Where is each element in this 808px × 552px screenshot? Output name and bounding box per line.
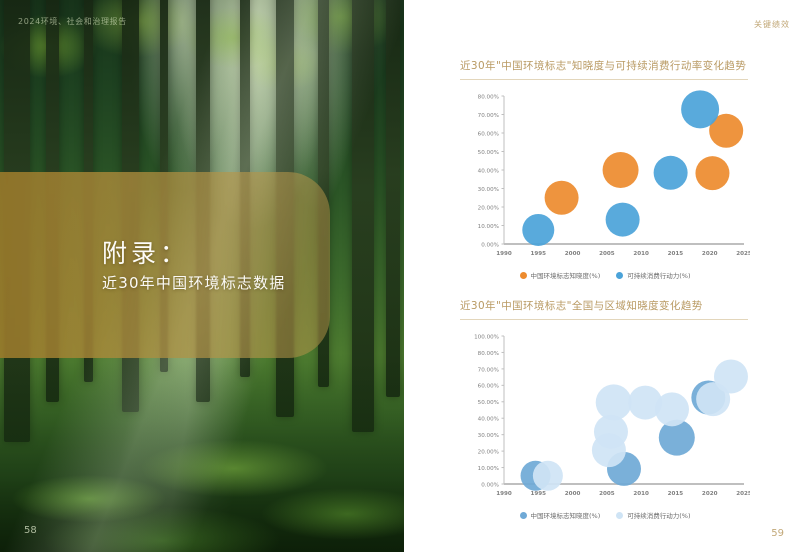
tree-trunk (386, 0, 400, 397)
chart-title-rule (460, 319, 748, 320)
y-axis-tick-label: 30.00% (478, 187, 499, 193)
running-header-left: 2024环境、社会和治理报告 (18, 16, 127, 27)
x-axis-tick-label: 1995 (530, 491, 546, 497)
scatter-bubble (596, 384, 632, 420)
legend-color-dot (520, 272, 527, 279)
legend-item[interactable]: 可持续消费行动力(%) (616, 510, 690, 520)
y-axis-tick-label: 50.00% (478, 150, 499, 156)
scatter-bubble (522, 214, 554, 246)
y-axis-tick-label: 40.00% (478, 417, 499, 423)
chart-title: 近30年"中国环境标志"知晓度与可持续消费行动率变化趋势 (460, 58, 760, 79)
x-axis-tick-label: 2015 (668, 491, 684, 497)
appendix-subtitle: 近30年中国环境标志数据 (102, 272, 286, 293)
x-axis-tick-label: 2020 (702, 491, 718, 497)
chart-title: 近30年"中国环境标志"全国与区域知晓度变化趋势 (460, 298, 760, 319)
y-axis-tick-label: 60.00% (478, 384, 499, 390)
page-number-right: 59 (771, 528, 784, 539)
y-axis-tick-label: 80.00% (478, 94, 499, 100)
scatter-bubble (606, 203, 640, 237)
x-axis-tick-label: 2010 (633, 251, 649, 257)
y-axis-tick-label: 60.00% (478, 131, 499, 137)
legend-item[interactable]: 中国环境标志知晓度(%) (520, 510, 601, 520)
legend-label: 可持续消费行动力(%) (627, 510, 690, 520)
scatter-bubble (533, 461, 563, 491)
scatter-plot-svg: 0.00%10.00%20.00%30.00%40.00%50.00%60.00… (460, 328, 750, 508)
y-axis-tick-label: 0.00% (481, 242, 499, 248)
y-axis-tick-label: 30.00% (478, 433, 499, 439)
x-axis-tick-label: 2015 (668, 251, 684, 257)
y-axis-tick-label: 0.00% (481, 482, 499, 488)
x-axis-tick-label: 2000 (565, 491, 581, 497)
appendix-callout-panel: 附录： 近30年中国环境标志数据 (0, 172, 330, 358)
scatter-bubble (545, 181, 579, 215)
y-axis-tick-label: 10.00% (478, 466, 499, 472)
x-axis-tick-label: 1990 (496, 251, 512, 257)
scatter-bubble (695, 156, 729, 190)
y-axis-tick-label: 70.00% (478, 113, 499, 119)
x-axis-tick-label: 2010 (633, 491, 649, 497)
y-axis-tick-label: 20.00% (478, 205, 499, 211)
scatter-bubble (603, 152, 639, 188)
legend-color-dot (616, 512, 623, 519)
legend-color-dot (520, 512, 527, 519)
legend-label: 中国环境标志知晓度(%) (531, 510, 601, 520)
appendix-title: 附录： (102, 234, 189, 270)
forest-floor-layer (0, 362, 404, 552)
y-axis-tick-label: 40.00% (478, 168, 499, 174)
running-header-right: 关键绩效 (754, 19, 790, 30)
y-axis-tick-label: 80.00% (478, 351, 499, 357)
scatter-bubble (655, 392, 689, 426)
x-axis-tick-label: 2025 (736, 251, 750, 257)
y-axis-tick-label: 10.00% (478, 224, 499, 230)
right-page: 关键绩效 近30年"中国环境标志"知晓度与可持续消费行动率变化趋势 0.00%1… (404, 0, 808, 552)
chart-block-awareness-vs-action: 近30年"中国环境标志"知晓度与可持续消费行动率变化趋势 0.00%10.00%… (460, 58, 760, 280)
y-axis-tick-label: 20.00% (478, 450, 499, 456)
legend-item[interactable]: 可持续消费行动力(%) (616, 270, 690, 280)
x-axis-tick-label: 2025 (736, 491, 750, 497)
scatter-bubble (681, 90, 719, 128)
legend-color-dot (616, 272, 623, 279)
scatter-bubble (714, 359, 748, 393)
report-spread: 2024环境、社会和治理报告 附录： 近30年中国环境标志数据 58 关键绩效 … (0, 0, 808, 552)
left-page: 2024环境、社会和治理报告 附录： 近30年中国环境标志数据 58 (0, 0, 404, 552)
legend-label: 可持续消费行动力(%) (627, 270, 690, 280)
y-axis-tick-label: 70.00% (478, 367, 499, 373)
x-axis-tick-label: 2000 (565, 251, 581, 257)
page-number-left: 58 (24, 525, 37, 536)
legend-item[interactable]: 中国环境标志知晓度(%) (520, 270, 601, 280)
x-axis-tick-label: 2020 (702, 251, 718, 257)
chart-plot-area: 0.00%10.00%20.00%30.00%40.00%50.00%60.00… (460, 328, 750, 508)
y-axis-tick-label: 100.00% (474, 334, 499, 340)
x-axis-tick-label: 2005 (599, 251, 615, 257)
chart-plot-area: 0.00%10.00%20.00%30.00%40.00%50.00%60.00… (460, 88, 750, 268)
chart-legend: 中国环境标志知晓度(%)可持续消费行动力(%) (460, 510, 750, 520)
chart-title-rule (460, 79, 748, 80)
x-axis-tick-label: 1995 (530, 251, 546, 257)
scatter-bubble (654, 156, 688, 190)
chart-block-national-vs-regional: 近30年"中国环境标志"全国与区域知晓度变化趋势 0.00%10.00%20.0… (460, 298, 760, 520)
y-axis-tick-label: 50.00% (478, 400, 499, 406)
scatter-plot-svg: 0.00%10.00%20.00%30.00%40.00%50.00%60.00… (460, 88, 750, 268)
x-axis-tick-label: 2005 (599, 491, 615, 497)
legend-label: 中国环境标志知晓度(%) (531, 270, 601, 280)
x-axis-tick-label: 1990 (496, 491, 512, 497)
chart-legend: 中国环境标志知晓度(%)可持续消费行动力(%) (460, 270, 750, 280)
